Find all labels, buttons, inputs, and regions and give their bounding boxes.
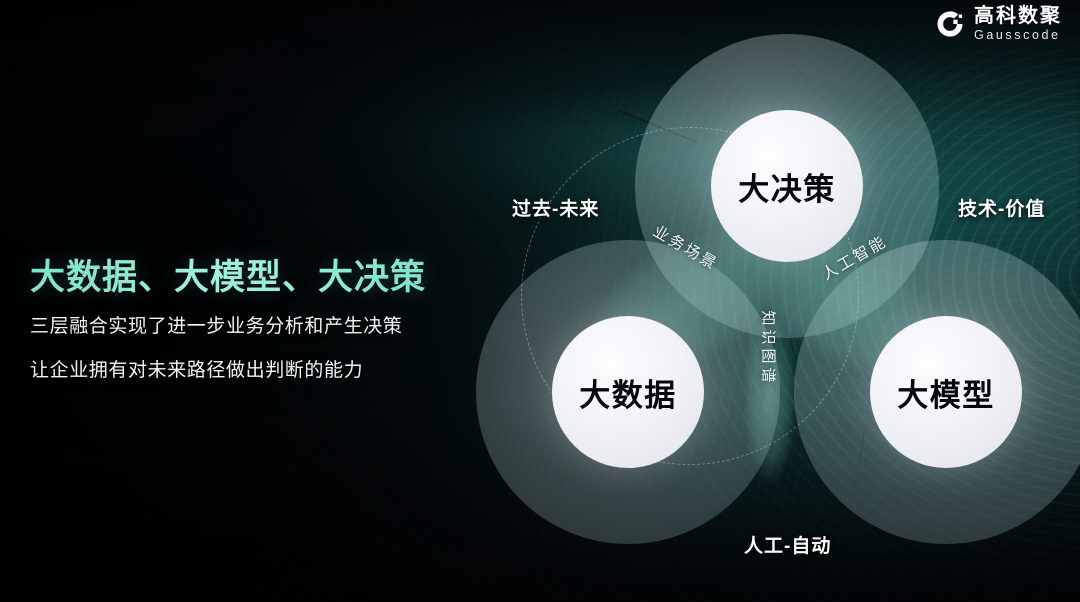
venn-core-decision[interactable]: 大决策	[711, 110, 863, 262]
overlap-label-knowledge-graph: 知识图谱	[759, 311, 780, 371]
venn-core-label-bigdata: 大数据	[579, 370, 677, 415]
venn-diagram: 业务场景 人工智能 知识图谱 大决策 大数据 大模型	[452, 8, 1080, 594]
copy-block: 大数据、大模型、大决策 三层融合实现了进一步业务分析和产生决策 让企业拥有对未来…	[30, 256, 500, 382]
venn-core-label-bigmodel: 大模型	[897, 370, 995, 415]
venn-core-bigdata[interactable]: 大数据	[552, 316, 704, 468]
axis-label-manual-auto: 人工-自动	[744, 531, 831, 558]
subtitle-line-2: 让企业拥有对未来路径做出判断的能力	[30, 361, 500, 382]
subtitle-line-1: 三层融合实现了进一步业务分析和产生决策	[30, 317, 500, 338]
axis-label-tech-value: 技术-价值	[958, 194, 1045, 221]
slide-canvas: 高科数聚 Gausscode 大数据、大模型、大决策 三层融合实现了进一步业务分…	[0, 0, 1080, 602]
page-title: 大数据、大模型、大决策	[30, 256, 500, 299]
venn-core-label-decision: 大决策	[738, 164, 836, 209]
axis-label-past-future: 过去-未来	[512, 194, 599, 221]
venn-core-bigmodel[interactable]: 大模型	[870, 316, 1022, 468]
